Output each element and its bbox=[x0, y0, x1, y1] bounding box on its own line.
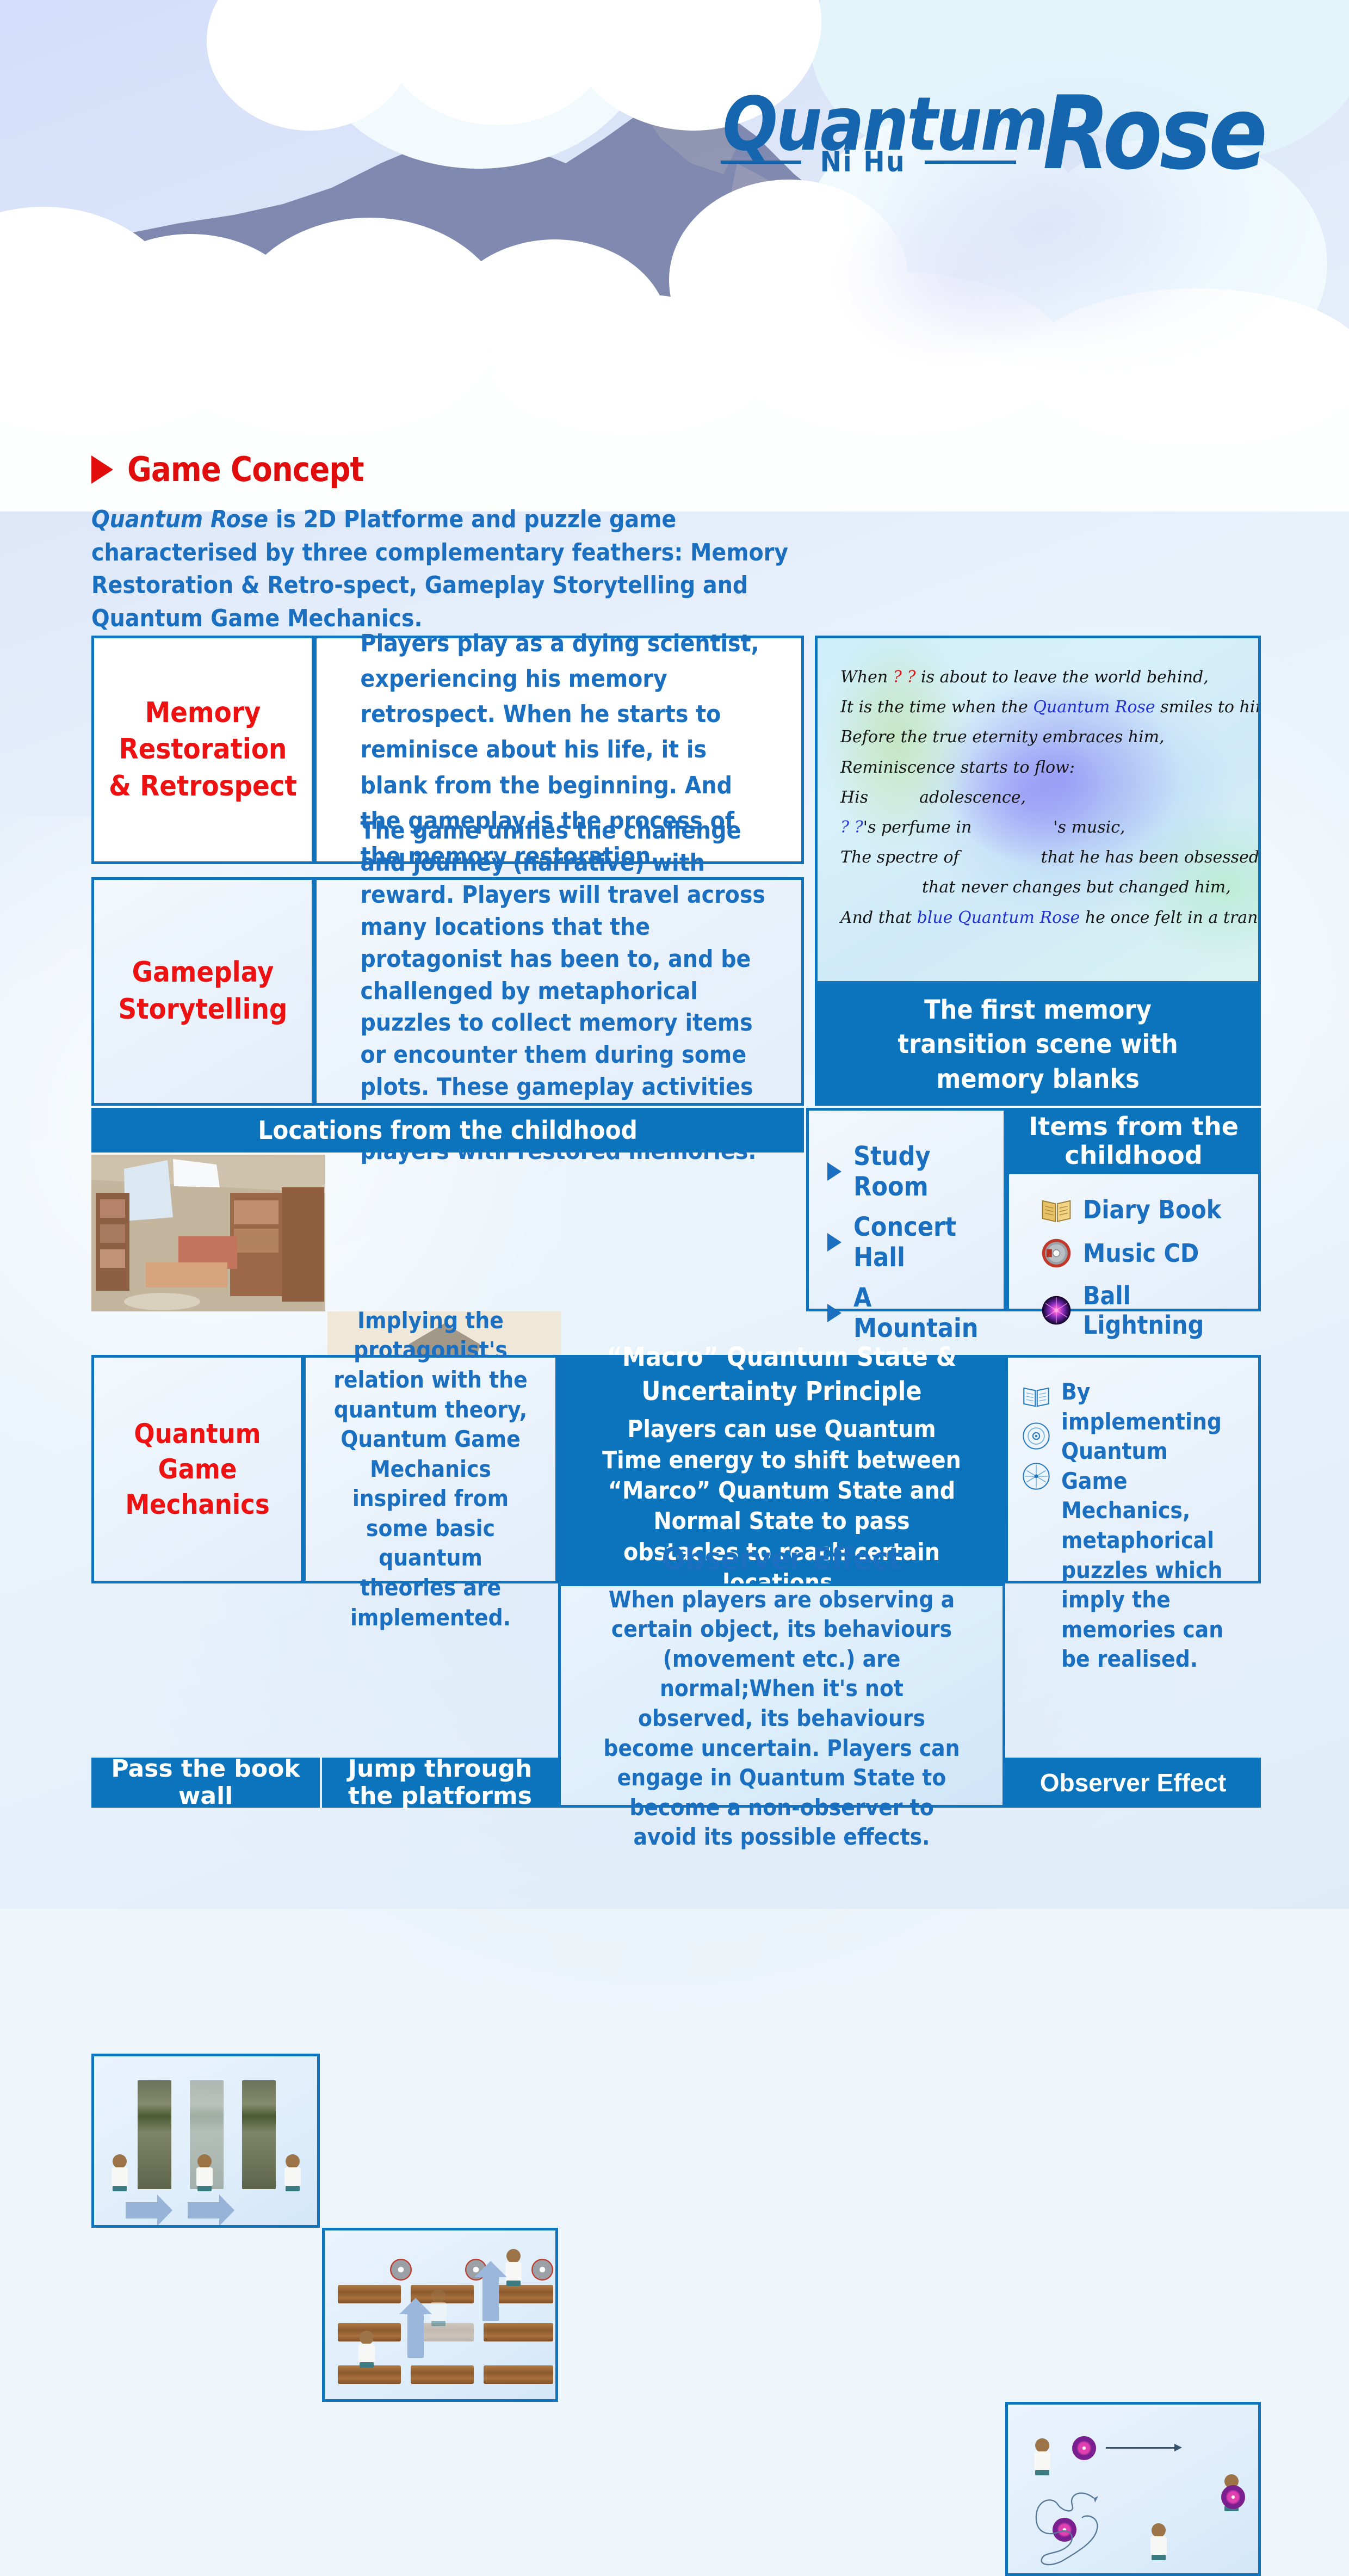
storytelling-label-cell: Gameplay Storytelling bbox=[91, 877, 314, 1106]
item-entry[interactable]: Ball Lightning bbox=[1041, 1281, 1258, 1340]
byline-rule-right bbox=[925, 161, 1016, 164]
game-concept-heading-row: Game Concept bbox=[91, 449, 799, 489]
platforms-caption: Jump through the platforms bbox=[322, 1758, 558, 1808]
author-byline: Ni Hu bbox=[721, 146, 1016, 178]
poem-line-6: ? ?'s perfume in's music, bbox=[840, 812, 1242, 842]
diary-book-icon bbox=[1041, 1194, 1072, 1225]
study-room-photo bbox=[91, 1155, 325, 1311]
ball-lightning-icon bbox=[1221, 2485, 1245, 2509]
ball-lightning-icon bbox=[1021, 1461, 1051, 1492]
location-label: Study Room bbox=[853, 1141, 988, 1202]
location-item[interactable]: Concert Hall bbox=[827, 1212, 1004, 1273]
study-room-art bbox=[91, 1155, 325, 1311]
music-cd-icon bbox=[1021, 1421, 1051, 1451]
locations-header-text: Locations from the childhood bbox=[258, 1116, 638, 1144]
scientist-sprite bbox=[1033, 2438, 1051, 2478]
storytelling-label-text: Gameplay Storytelling bbox=[105, 954, 301, 1028]
arrow-right-icon bbox=[827, 1304, 841, 1322]
book-wall-caption: Pass the book wall bbox=[91, 1758, 320, 1808]
mechanics-sidenote-cell: By implementing Quantum Game Mechanics, … bbox=[1005, 1355, 1261, 1583]
ball-lightning-icon bbox=[1041, 1295, 1072, 1326]
poem-line-4: Reminiscence starts to flow: bbox=[840, 753, 1242, 782]
items-header-text: Items from the childhood bbox=[1006, 1112, 1261, 1170]
platform bbox=[338, 2285, 401, 2303]
book-column bbox=[138, 2080, 171, 2189]
poem-line-1: When ? ? is about to leave the world beh… bbox=[840, 662, 1242, 692]
scientist-sprite bbox=[429, 2289, 448, 2328]
poem-caption-text: The first memory transition scene with m… bbox=[837, 993, 1239, 1096]
storytelling-body-cell: The game unifies the challenge and journ… bbox=[314, 877, 804, 1106]
observer-effect-text-cell: Observer Effect When players are observi… bbox=[558, 1583, 1005, 1808]
music-cd-icon bbox=[390, 2259, 412, 2281]
item-entry[interactable]: Diary Book bbox=[1041, 1194, 1258, 1225]
title-word-rose: Rose bbox=[1043, 83, 1265, 184]
poem-caption-bar: The first memory transition scene with m… bbox=[815, 984, 1261, 1106]
game-concept-section: Game Concept Quantum Rose is 2D Platform… bbox=[91, 449, 799, 636]
poem-line-8: that never changes but changed him, bbox=[840, 872, 1242, 902]
platform bbox=[484, 2323, 553, 2341]
mechanics-label-cell: Quantum Game Mechanics bbox=[91, 1355, 304, 1583]
item-label: Ball Lightning bbox=[1083, 1281, 1241, 1340]
platforms-scene bbox=[322, 2228, 558, 2402]
book-column bbox=[242, 2080, 276, 2189]
mechanics-label-text: Quantum Game Mechanics bbox=[104, 1416, 290, 1523]
poem-line-9: And that blue Quantum Rose he once felt … bbox=[840, 903, 1242, 933]
arrow-right-icon bbox=[1106, 2447, 1177, 2449]
mechanics-intro-cell: Implying the protagonist's relation with… bbox=[304, 1355, 558, 1583]
scientist-sprite bbox=[283, 2154, 302, 2193]
location-item[interactable]: A Mountain bbox=[827, 1283, 1004, 1344]
book-wall-caption-text: Pass the book wall bbox=[91, 1755, 320, 1810]
platform bbox=[411, 2365, 474, 2384]
scientist-sprite bbox=[357, 2331, 376, 2370]
item-entry[interactable]: Music CD bbox=[1041, 1237, 1258, 1269]
author-name: Ni Hu bbox=[820, 146, 906, 178]
memory-label-text: Memory Restoration & Retrospect bbox=[105, 695, 301, 805]
arrow-right-icon bbox=[126, 2202, 158, 2218]
observer-effect-caption: Observer Effect bbox=[1005, 1758, 1261, 1808]
music-cd-icon bbox=[531, 2259, 553, 2281]
arrow-right-icon bbox=[827, 1162, 841, 1181]
location-item[interactable]: Study Room bbox=[827, 1141, 1004, 1202]
locations-header-bar: Locations from the childhood bbox=[91, 1108, 804, 1153]
game-concept-title: Game Concept bbox=[127, 449, 364, 489]
triangle-bullet-icon bbox=[91, 455, 113, 484]
locations-list-cell: Study Room Concert Hall A Mountain ( fro… bbox=[806, 1108, 1006, 1311]
poem-line-7: The spectre ofthat he has been obsessed … bbox=[840, 842, 1242, 872]
mechanics-sidenote-text: By implementing Quantum Game Mechanics, … bbox=[1061, 1377, 1229, 1674]
item-label: Music CD bbox=[1083, 1238, 1199, 1268]
game-concept-body: Quantum Rose is 2D Platforme and puzzle … bbox=[91, 503, 796, 636]
music-cd-icon bbox=[1041, 1237, 1072, 1269]
game-title-italic: Quantum Rose bbox=[91, 506, 268, 533]
scientist-sprite bbox=[1149, 2523, 1168, 2562]
poem-line-3: Before the true eternity embraces him, bbox=[840, 722, 1242, 752]
ball-lightning-icon bbox=[1072, 2436, 1096, 2460]
arrow-right-icon bbox=[188, 2202, 220, 2218]
diary-book-icon bbox=[1021, 1381, 1051, 1411]
book-wall-scene bbox=[91, 2054, 320, 2228]
location-label: A Mountain bbox=[853, 1283, 988, 1344]
observer-effect-body: When players are observing a certain obj… bbox=[583, 1581, 981, 1852]
items-header-bar: Items from the childhood bbox=[1006, 1108, 1261, 1174]
item-label: Diary Book bbox=[1083, 1195, 1221, 1224]
items-list-cell: Diary Book Music CD bbox=[1006, 1174, 1261, 1311]
arrow-right-icon bbox=[827, 1233, 841, 1252]
scientist-sprite bbox=[504, 2249, 523, 2288]
byline-rule-left bbox=[721, 161, 801, 164]
observer-effect-caption-text: Observer Effect bbox=[1040, 1768, 1227, 1797]
mechanics-intro-text: Implying the protagonist's relation with… bbox=[318, 1306, 543, 1633]
poem-line-2: It is the time when the Quantum Rose smi… bbox=[840, 692, 1242, 722]
memory-label-cell: Memory Restoration & Retrospect bbox=[91, 636, 314, 864]
observer-effect-scene bbox=[1005, 2402, 1261, 2576]
uncertain-path-icon bbox=[1030, 2486, 1138, 2568]
scientist-sprite bbox=[195, 2154, 214, 2193]
platforms-caption-text: Jump through the platforms bbox=[322, 1755, 558, 1810]
poem-line-5: Hisadolescence, bbox=[840, 782, 1242, 812]
scientist-sprite bbox=[110, 2154, 129, 2193]
observer-effect-title: Observer Effect bbox=[662, 1539, 902, 1581]
arrow-up-icon bbox=[407, 2313, 424, 2358]
poem-text: When ? ? is about to leave the world beh… bbox=[818, 638, 1258, 933]
arrow-up-icon bbox=[482, 2276, 499, 2321]
platform bbox=[484, 2365, 553, 2384]
poem-image-panel: When ? ? is about to leave the world beh… bbox=[815, 636, 1261, 984]
macro-quantum-title: “Macro” Quantum State & Uncertainty Prin… bbox=[580, 1340, 983, 1409]
location-label: Concert Hall bbox=[853, 1212, 988, 1273]
poster-header: QuantumRose Ni Hu bbox=[0, 0, 1349, 414]
